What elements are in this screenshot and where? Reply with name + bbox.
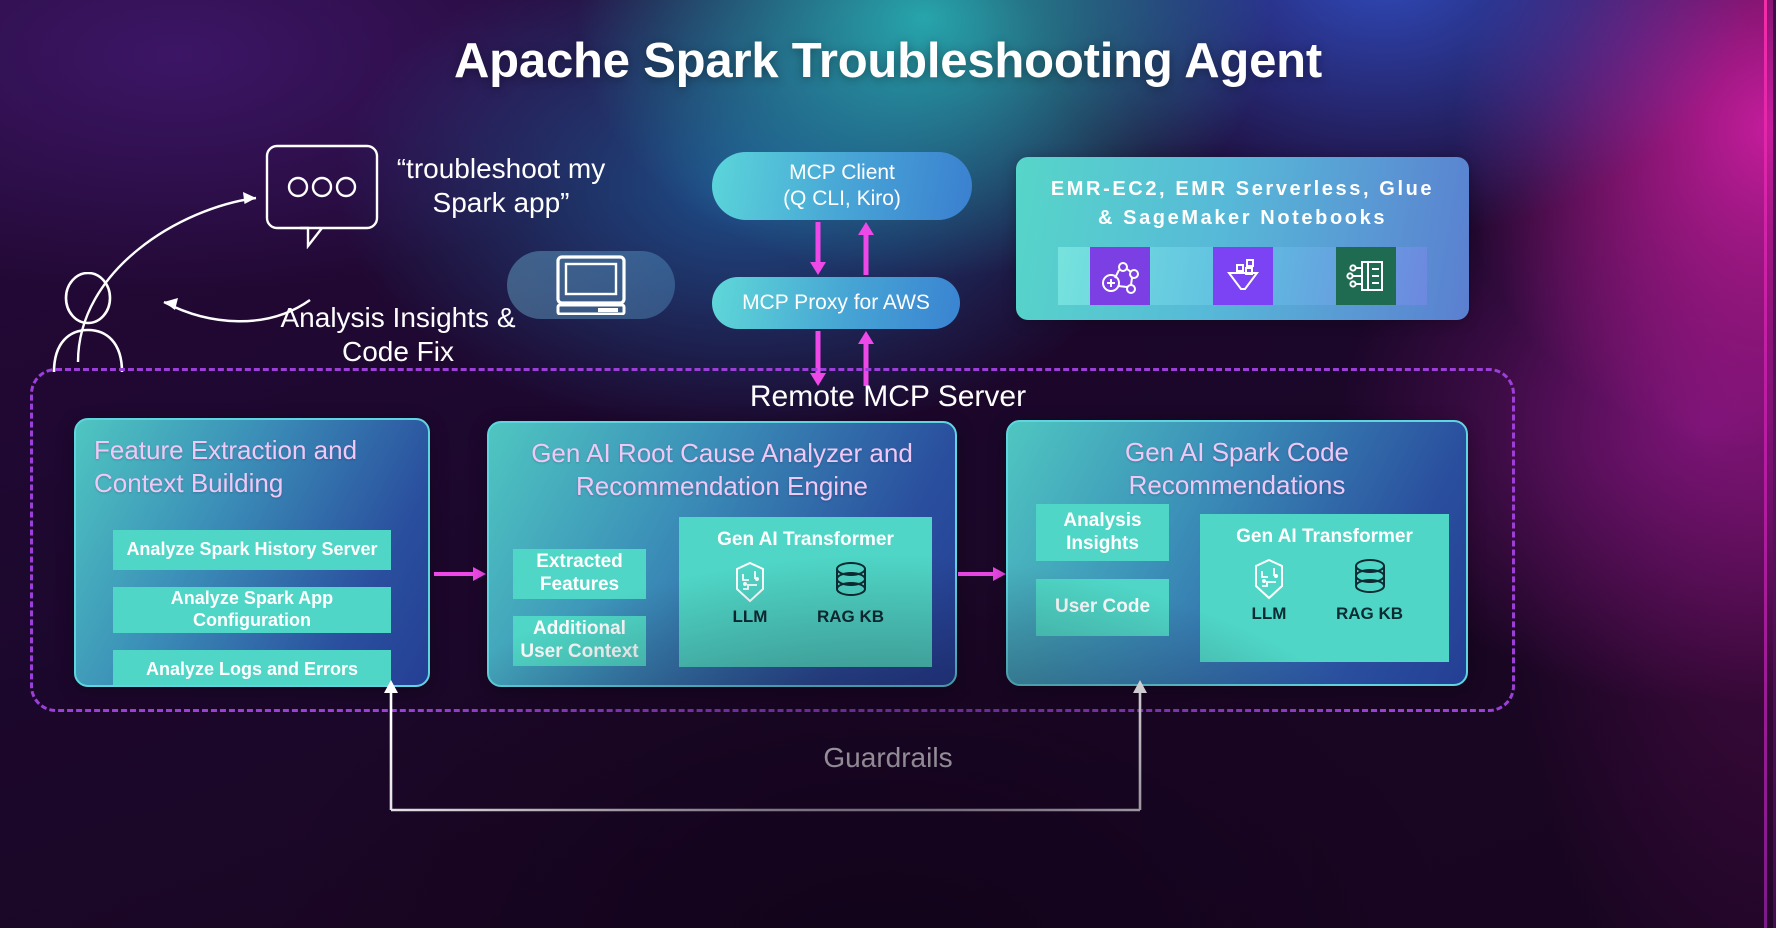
arrow-stage2-to-stage3 xyxy=(958,566,1008,582)
transformer-item-label: LLM xyxy=(733,607,768,627)
chip-analyze-app-config[interactable]: Analyze Spark App Configuration xyxy=(113,587,391,633)
transformer-item-rag: RAG KB xyxy=(1336,558,1403,624)
guardrails-label: Guardrails xyxy=(0,742,1776,774)
emr-cluster-icon xyxy=(1090,247,1150,305)
gen-ai-transformer-box: Gen AI Transformer LLM xyxy=(679,517,932,667)
compute-services-panel: EMR-EC2, EMR Serverless, Glue & SageMake… xyxy=(1016,157,1469,320)
monitor-icon xyxy=(554,255,628,315)
transformer-item-rag: RAG KB xyxy=(817,561,884,627)
stage-card-feature-extraction[interactable]: Feature Extraction and Context Building … xyxy=(74,418,430,687)
stage-chip-list: Analyze Spark History Server Analyze Spa… xyxy=(113,530,391,687)
mcp-proxy-pill[interactable]: MCP Proxy for AWS xyxy=(712,277,960,329)
transformer-item-llm: LLM xyxy=(727,561,773,627)
diagram-canvas: Apache Spark Troubleshooting Agent “trou… xyxy=(0,0,1776,928)
user-response-label: Analysis Insights & Code Fix xyxy=(278,301,518,369)
compute-services-title: EMR-EC2, EMR Serverless, Glue & SageMake… xyxy=(1016,157,1469,233)
sagemaker-notebook-icon xyxy=(1336,247,1396,305)
gen-ai-transformer-box: Gen AI Transformer LLM xyxy=(1200,514,1449,662)
compute-services-icon-row xyxy=(1058,247,1427,305)
speech-bubble-icon xyxy=(264,143,380,249)
transformer-item-label: LLM xyxy=(1252,604,1287,624)
brain-circuit-icon xyxy=(727,561,773,603)
person-icon xyxy=(48,272,128,372)
monitor-pill xyxy=(507,251,675,319)
stage-card-root-cause-analyzer[interactable]: Gen AI Root Cause Analyzer and Recommend… xyxy=(487,421,957,687)
stage-chip-list: Analysis Insights User Code xyxy=(1036,504,1169,654)
transformer-item-llm: LLM xyxy=(1246,558,1292,624)
transformer-item-label: RAG KB xyxy=(817,607,884,627)
chip-analyze-history-server[interactable]: Analyze Spark History Server xyxy=(113,530,391,570)
stage-card-title: Gen AI Spark Code Recommendations xyxy=(1008,422,1466,509)
chip-additional-user-context[interactable]: Additional User Context xyxy=(513,616,646,666)
stage-card-code-recommendations[interactable]: Gen AI Spark Code Recommendations Analys… xyxy=(1006,420,1468,686)
stage-card-title: Gen AI Root Cause Analyzer and Recommend… xyxy=(489,423,955,510)
transformer-item-label: RAG KB xyxy=(1336,604,1403,624)
stage-card-title: Feature Extraction and Context Building xyxy=(76,420,428,507)
mcp-client-label: MCP Client (Q CLI, Kiro) xyxy=(783,160,901,213)
transformer-title: Gen AI Transformer xyxy=(1236,526,1413,548)
chip-analysis-insights[interactable]: Analysis Insights xyxy=(1036,504,1169,561)
remote-mcp-server-label: Remote MCP Server xyxy=(0,380,1776,414)
chip-extracted-features[interactable]: Extracted Features xyxy=(513,549,646,599)
right-edge-accent-line xyxy=(1764,0,1767,928)
transformer-title: Gen AI Transformer xyxy=(717,529,894,551)
stage-chip-list: Extracted Features Additional User Conte… xyxy=(513,549,646,683)
brain-circuit-icon xyxy=(1246,558,1292,600)
database-icon xyxy=(1349,558,1391,600)
mcp-client-proxy-arrows xyxy=(808,222,882,276)
glue-funnel-icon xyxy=(1213,247,1273,305)
user-request-quote: “troubleshoot my Spark app” xyxy=(391,152,611,220)
mcp-proxy-label: MCP Proxy for AWS xyxy=(742,290,930,316)
mcp-client-pill[interactable]: MCP Client (Q CLI, Kiro) xyxy=(712,152,972,220)
page-title: Apache Spark Troubleshooting Agent xyxy=(0,33,1776,89)
arrow-stage1-to-stage2 xyxy=(434,566,488,582)
database-icon xyxy=(830,561,872,603)
chip-user-code[interactable]: User Code xyxy=(1036,579,1169,636)
